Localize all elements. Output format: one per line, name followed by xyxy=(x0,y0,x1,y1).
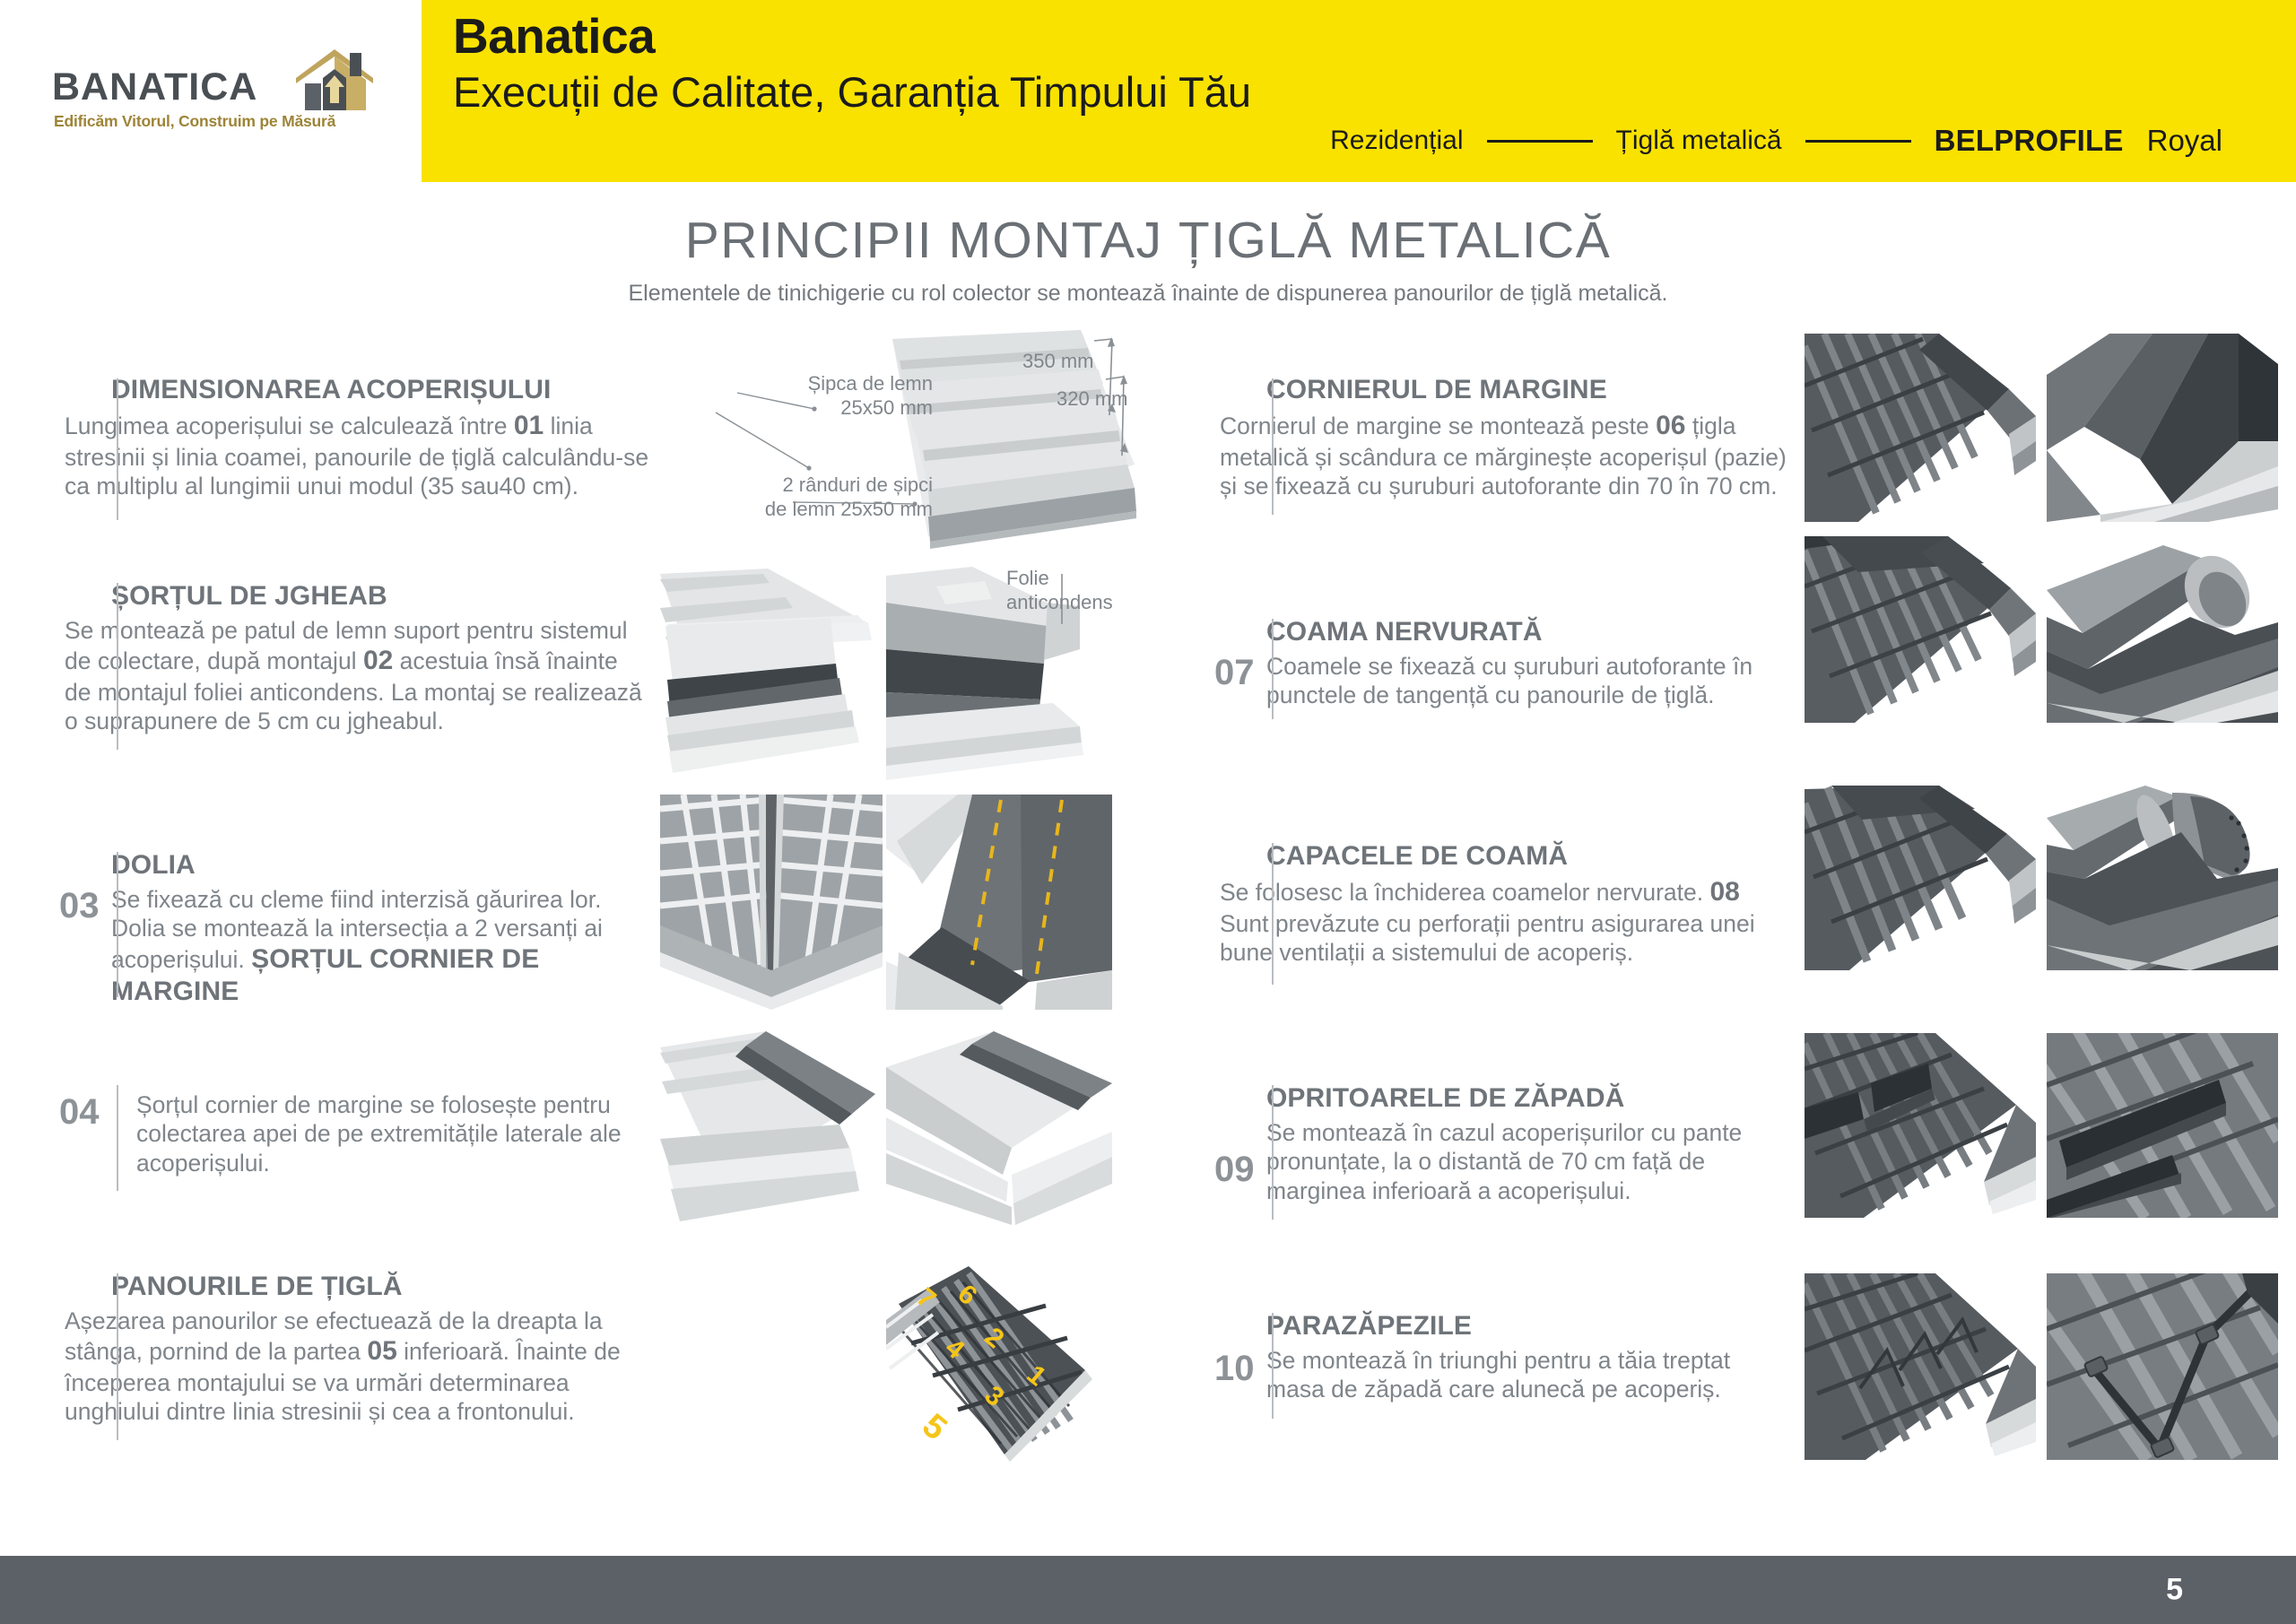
step-rule xyxy=(1272,619,1274,719)
step-rule xyxy=(117,583,118,750)
step-05-text: Așezarea panourilor se efectuează de la … xyxy=(65,1307,648,1427)
product-brand: BELPROFILE xyxy=(1935,124,2124,158)
document-page: BANATICA Edificăm Vitorul, Construim pe … xyxy=(0,0,2296,1624)
photo-parazapezile-b xyxy=(2047,1273,2278,1460)
brand-subtitle: Execuții de Calitate, Garanția Timpului … xyxy=(453,67,1251,117)
step-01-text: Lungimea acoperișului se calculează într… xyxy=(65,410,657,500)
photo-panel-sequence: 1 2 3 4 5 6 7 xyxy=(886,1250,1112,1474)
step-04-number: 04 xyxy=(59,1092,100,1133)
step-03: 03 DOLIA Se fixează cu cleme fiind inter… xyxy=(65,850,639,1009)
step-rule xyxy=(1272,843,1274,985)
step-05: PANOURILE DE ȚIGLĂ Așezarea panourilor s… xyxy=(65,1272,648,1427)
step-07-title: COAMA NERVURATĂ xyxy=(1266,617,1794,647)
step-05-title: PANOURILE DE ȚIGLĂ xyxy=(111,1272,648,1302)
step-rule xyxy=(117,852,118,997)
step-rule xyxy=(117,378,118,520)
page-title: PRINCIPII MONTAJ ȚIGLĂ METALICĂ xyxy=(0,211,2296,270)
step-09: 09 OPRITOARELE DE ZĂPADĂ Se montează în … xyxy=(1220,1083,1794,1205)
step-09-title: OPRITOARELE DE ZĂPADĂ xyxy=(1266,1083,1794,1114)
label-folie-anticondens: Folieanticondens xyxy=(1006,567,1186,615)
step-02-title: ȘORȚUL DE JGHEAB xyxy=(111,581,648,612)
logo-wordmark: BANATICA xyxy=(52,65,257,109)
breadcrumb-item-tigla[interactable]: Țiglă metalică xyxy=(1616,126,1782,156)
step-10-title: PARAZĂPEZILE xyxy=(1266,1311,1794,1342)
step-07-number: 07 xyxy=(1214,653,1255,693)
label-320mm: 320 mm xyxy=(1057,387,1127,412)
photo-sort-cornier-b xyxy=(886,1031,1112,1229)
step-rule xyxy=(1272,378,1274,515)
leader-line-randuri xyxy=(789,491,933,518)
step-06: CORNIERUL DE MARGINE Cornierul de margin… xyxy=(1220,375,1794,500)
step-rule xyxy=(117,1273,118,1440)
step-08: CAPACELE DE COAMĂ Se folosesc la închide… xyxy=(1220,841,1794,967)
step-02: ȘORȚUL DE JGHEAB Se montează pe patul de… xyxy=(65,581,648,736)
step-07-text: Coamele se fixează cu șuruburi autoforan… xyxy=(1266,652,1794,710)
footer-bar: 5 xyxy=(0,1556,2296,1624)
step-09-number: 09 xyxy=(1214,1150,1255,1190)
step-rule xyxy=(1272,1313,1274,1419)
photo-coama-nervurata-a xyxy=(1805,536,2036,723)
step-01-title: DIMENSIONAREA ACOPERIȘULUI xyxy=(111,375,657,405)
page-number: 5 xyxy=(2166,1573,2183,1608)
step-10-number: 10 xyxy=(1214,1349,1255,1389)
label-350mm: 350 mm xyxy=(1022,350,1093,374)
house-icon xyxy=(294,48,375,112)
brand-title: Banatica xyxy=(453,7,655,65)
step-02-text: Se montează pe patul de lemn suport pent… xyxy=(65,616,648,736)
step-10-text: Se montează în triunghi pentru a tăia tr… xyxy=(1266,1346,1794,1404)
logo-tagline: Edificăm Vitorul, Construim pe Măsură xyxy=(54,112,335,131)
photo-dolia-b xyxy=(886,795,1112,1010)
photo-dolia-a xyxy=(660,795,883,1010)
company-logo: BANATICA Edificăm Vitorul, Construim pe … xyxy=(0,0,422,182)
breadcrumb: Rezidențial Țiglă metalică BELPROFILE Ro… xyxy=(1330,124,2222,158)
photo-capace-coama-a xyxy=(1805,786,2036,970)
photo-capace-coama-b xyxy=(2047,786,2278,970)
product-model: Royal xyxy=(2147,124,2222,158)
step-09-text: Se montează în cazul acoperișurilor cu p… xyxy=(1266,1118,1794,1205)
step-03-title: DOLIA xyxy=(111,850,639,881)
step-07: 07 COAMA NERVURATĂ Coamele se fixează cu… xyxy=(1220,617,1794,710)
step-08-title: CAPACELE DE COAMĂ xyxy=(1266,841,1794,872)
breadcrumb-divider-1 xyxy=(1487,140,1593,143)
photo-cornier-margine-a xyxy=(1805,334,2036,522)
step-03-number: 03 xyxy=(59,886,100,926)
photo-sort-cornier-a xyxy=(660,1031,883,1229)
step-10: 10 PARAZĂPEZILE Se montează în triunghi … xyxy=(1220,1311,1794,1404)
step-04: 04 Șorțul cornier de margine se foloseșt… xyxy=(65,1090,639,1177)
step-04-text: Șorțul cornier de margine se folosește p… xyxy=(136,1090,639,1177)
photo-opritoare-zapada-b xyxy=(2047,1033,2278,1218)
step-01: DIMENSIONAREA ACOPERIȘULUI Lungimea acop… xyxy=(65,375,657,500)
step-08-text: Se folosesc la închiderea coamelor nervu… xyxy=(1220,876,1794,967)
breadcrumb-divider-2 xyxy=(1805,140,1911,143)
photo-sort-jgheab-a xyxy=(660,567,883,782)
photo-opritoare-zapada-a xyxy=(1805,1033,2036,1218)
photo-parazapezile-a xyxy=(1805,1273,2036,1460)
page-subtitle: Elementele de tinichigerie cu rol colect… xyxy=(0,281,2296,307)
breadcrumb-item-rezidential[interactable]: Rezidențial xyxy=(1330,126,1463,156)
photo-cornier-margine-b xyxy=(2047,334,2278,522)
step-06-text: Cornierul de margine se montează peste 0… xyxy=(1220,410,1794,500)
photo-coama-nervurata-b xyxy=(2047,536,2278,723)
step-06-title: CORNIERUL DE MARGINE xyxy=(1266,375,1794,405)
step-rule xyxy=(1272,1085,1274,1220)
step-03-text: Se fixează cu cleme fiind interzisă găur… xyxy=(111,885,639,1009)
step-rule xyxy=(117,1085,118,1191)
